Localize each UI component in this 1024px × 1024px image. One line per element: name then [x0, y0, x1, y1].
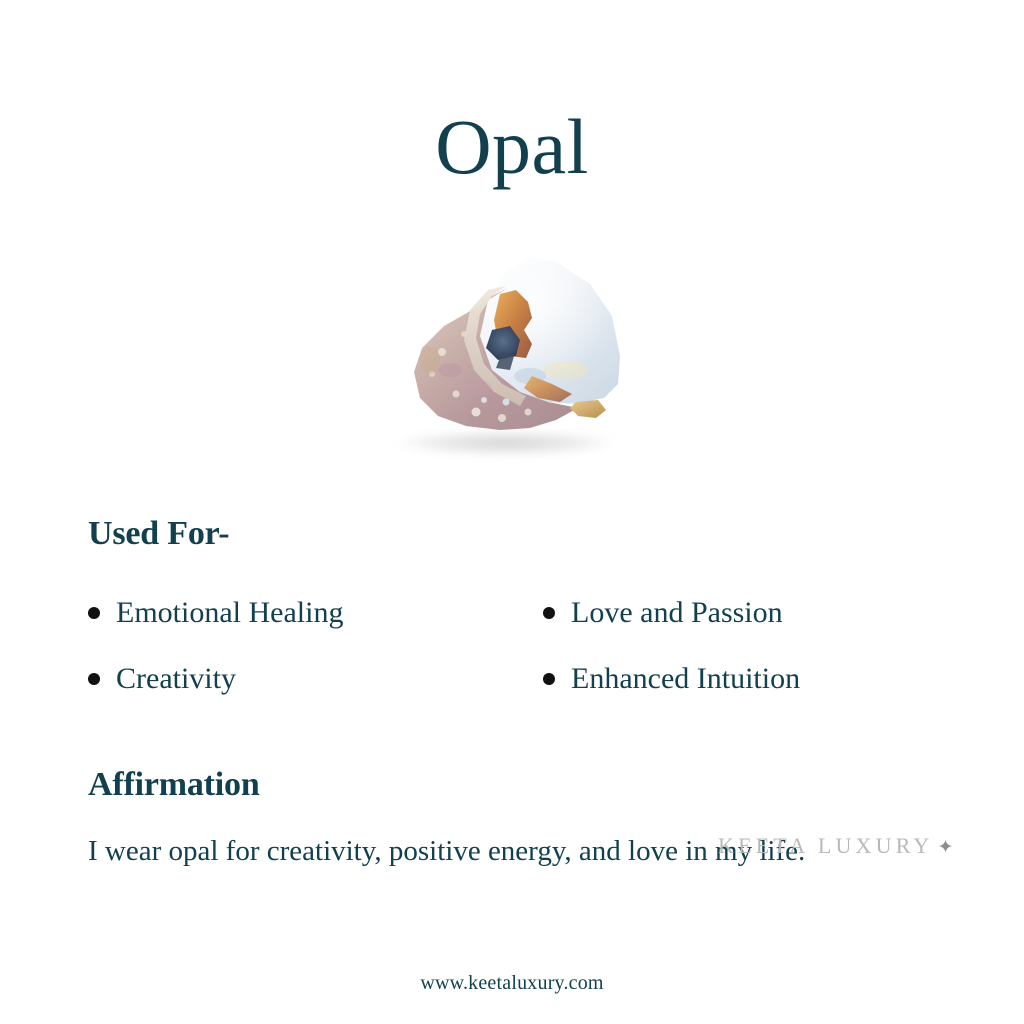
bullet-dot-icon [88, 607, 100, 619]
website-url[interactable]: www.keetaluxury.com [0, 972, 1024, 995]
page-title: Opal [0, 108, 1024, 186]
affirmation-text: I wear opal for creativity, positive ene… [88, 828, 933, 875]
used-for-list: Emotional Healing Love and Passion Creat… [88, 595, 948, 727]
list-item-label: Love and Passion [571, 595, 783, 631]
list-item-label: Creativity [116, 661, 236, 697]
list-item: Love and Passion [543, 595, 948, 661]
used-for-heading: Used For- [88, 515, 229, 553]
bullet-dot-icon [543, 673, 555, 685]
gemstone-image [372, 248, 652, 480]
bullet-dot-icon [543, 607, 555, 619]
list-item-label: Enhanced Intuition [571, 661, 800, 697]
list-item: Emotional Healing [88, 595, 543, 661]
watermark-diamond-icon: ✦ [933, 837, 953, 858]
bullet-dot-icon [88, 673, 100, 685]
affirmation-heading: Affirmation [88, 766, 260, 804]
opal-stone-illustration [380, 252, 644, 462]
list-item: Enhanced Intuition [543, 661, 948, 727]
list-item: Creativity [88, 661, 543, 727]
gemstone-info-card: Opal [0, 0, 1024, 1024]
list-item-label: Emotional Healing [116, 595, 343, 631]
